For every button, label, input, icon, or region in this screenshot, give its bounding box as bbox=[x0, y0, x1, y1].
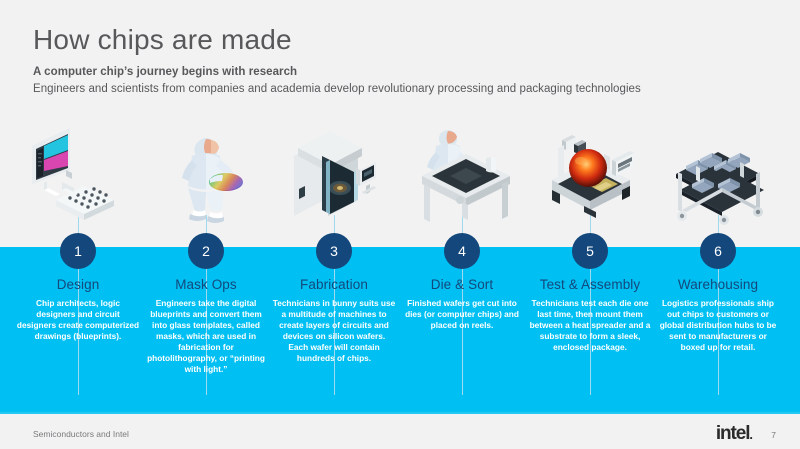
step-description: Engineers take the digital blueprints an… bbox=[144, 298, 268, 375]
step-title: Design bbox=[14, 277, 142, 292]
step-column-test-assembly: 5 Test & Assembly Technicians test each … bbox=[526, 120, 654, 410]
worker-at-bench-icon bbox=[398, 120, 526, 230]
step-description: Technicians in bunny suits use a multitu… bbox=[272, 298, 396, 364]
step-title: Mask Ops bbox=[142, 277, 270, 292]
step-column-warehousing: 6 Warehousing Logistics professionals sh… bbox=[654, 120, 782, 410]
intel-wordmark: intel bbox=[716, 423, 750, 444]
step-column-mask-ops: 2 Mask Ops Engineers take the digital bl… bbox=[142, 120, 270, 410]
warehouse-cart-icon bbox=[654, 120, 782, 230]
intel-logo: intel. bbox=[716, 424, 753, 443]
steps-container: 1 Design Chip architects, logic designer… bbox=[0, 0, 800, 449]
desktop-computer-icon bbox=[14, 120, 142, 230]
step-number-badge: 1 bbox=[60, 233, 96, 269]
step-title: Die & Sort bbox=[398, 277, 526, 292]
step-column-die-and-sort: 4 Die & Sort Finished wafers get cut int… bbox=[398, 120, 526, 410]
step-description: Chip architects, logic designers and cir… bbox=[16, 298, 140, 342]
bunny-suit-worker-wafer-icon bbox=[142, 120, 270, 230]
step-description: Technicians test each die one last time,… bbox=[528, 298, 652, 353]
step-title: Warehousing bbox=[654, 277, 782, 292]
page-number: 7 bbox=[771, 430, 776, 440]
step-number-badge: 2 bbox=[188, 233, 224, 269]
step-title: Test & Assembly bbox=[526, 277, 654, 292]
footer-label: Semiconductors and Intel bbox=[33, 429, 129, 439]
step-description: Finished wafers get cut into dies (or co… bbox=[400, 298, 524, 331]
step-number-badge: 3 bbox=[316, 233, 352, 269]
step-title: Fabrication bbox=[270, 277, 398, 292]
step-number-badge: 5 bbox=[572, 233, 608, 269]
step-number-badge: 4 bbox=[444, 233, 480, 269]
test-machine-icon bbox=[526, 120, 654, 230]
step-number-badge: 6 bbox=[700, 233, 736, 269]
step-description: Logistics professionals ship out chips t… bbox=[656, 298, 780, 353]
intel-logo-dot: . bbox=[749, 427, 753, 442]
step-column-design: 1 Design Chip architects, logic designer… bbox=[14, 120, 142, 410]
step-column-fabrication: 3 Fabrication Technicians in bunny suits… bbox=[270, 120, 398, 410]
fabrication-machine-icon bbox=[270, 120, 398, 230]
slide: How chips are made A computer chip’s jou… bbox=[0, 0, 800, 449]
